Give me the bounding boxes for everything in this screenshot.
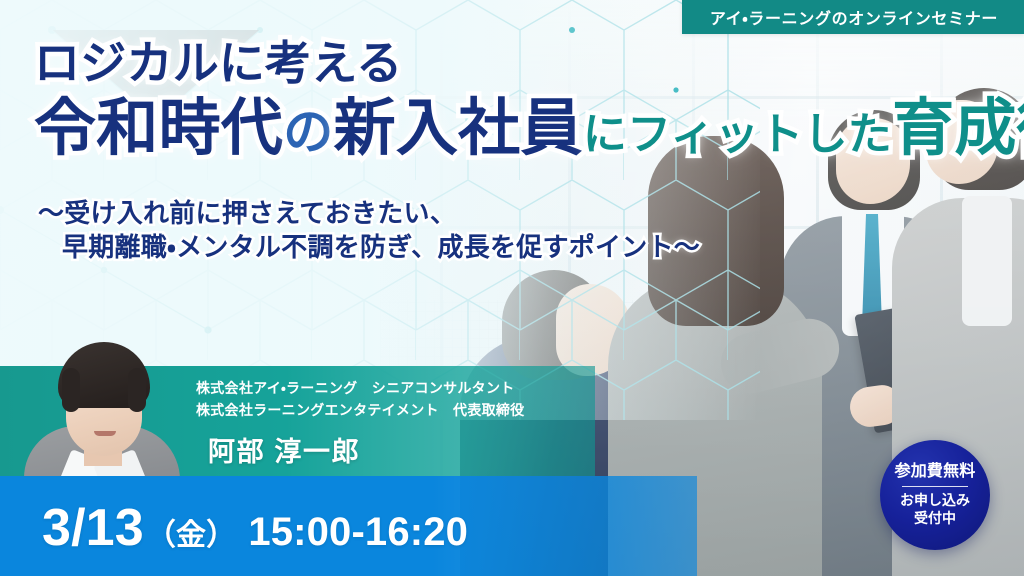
ribbon-label: アイ・ラーニングのオンラインセミナー [710,5,998,29]
headline-line-2: 令和時代の新入社員にフィットした育成術 [34,98,1014,160]
headline-block: ロジカルに考える 令和時代の新入社員にフィットした育成術 [34,40,1014,160]
headline-fit-phrase: にフィットした [583,113,892,157]
badge-free-label: 参加費無料 [895,463,976,481]
headline-line-1: ロジカルに考える [34,40,1014,86]
free-admission-badge: 参加費無料 お申し込み 受付中 [880,440,990,550]
speaker-affiliation-2: 株式会社ラーニングエンタテイメント 代表取締役 [196,400,524,422]
subtitle-line-2: 早期離職・メンタル不調を防ぎ、成長を促すポイント〜 [38,230,700,264]
schedule-text: 3/13 （金） 15:00-16:20 [42,498,468,558]
schedule-time: 15:00-16:20 [248,510,468,555]
headline-development-method: 育成術 [892,98,1024,160]
schedule-date: 3/13 [42,498,144,558]
online-seminar-ribbon: アイ・ラーニングのオンラインセミナー [682,0,1024,34]
badge-application-line-2: 受付中 [900,510,970,528]
speaker-name: 阿部 淳一郎 [208,430,360,469]
headline-new-employees: 新入社員 [334,98,583,160]
badge-application-status: お申し込み 受付中 [900,492,970,527]
subtitle-block: 〜受け入れ前に押さえておきたい、 早期離職・メンタル不調を防ぎ、成長を促すポイン… [38,196,700,265]
badge-divider [902,486,968,487]
speaker-affiliation-1: 株式会社アイ・ラーニング シニアコンサルタント [196,378,524,400]
badge-application-line-1: お申し込み [900,492,970,510]
speaker-affiliations: 株式会社アイ・ラーニング シニアコンサルタント 株式会社ラーニングエンタテイメン… [196,378,524,421]
schedule-day-of-week: （金） [146,510,236,554]
seminar-banner: アイ・ラーニングのオンラインセミナー ロジカルに考える 令和時代の新入社員にフィ… [0,0,1024,576]
headline-reiwa-era: 令和時代 [34,98,283,160]
headline-no-particle: の [283,107,333,157]
subtitle-line-1: 〜受け入れ前に押さえておきたい、 [38,196,700,230]
